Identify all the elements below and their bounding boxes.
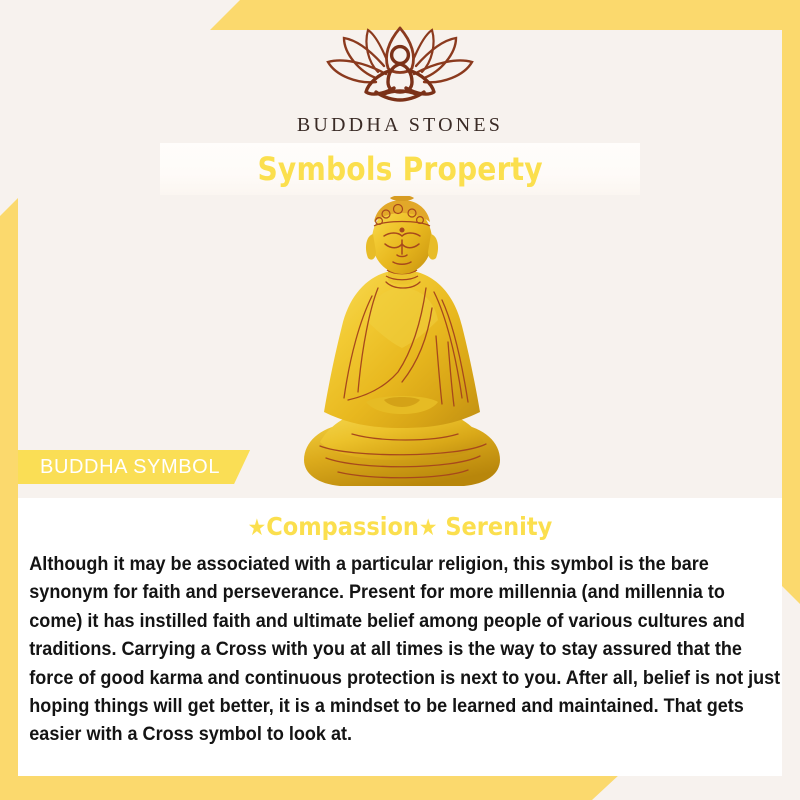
star-icon-1: ★	[248, 515, 267, 541]
attributes-heading: ★Compassion★ Serenity	[56, 498, 744, 541]
lotus-meditation-figure-icon	[314, 22, 486, 108]
description-paragraph: Although it may be associated with a par…	[18, 541, 793, 750]
brand-header: BUDDHA STONES	[0, 22, 800, 137]
decor-band-bottom	[0, 774, 620, 800]
attribute-compassion: Compassion	[266, 512, 419, 541]
ribbon-label: BUDDHA SYMBOL	[40, 456, 220, 479]
brand-name: BUDDHA STONES	[0, 114, 800, 137]
page-title: Symbols Property	[257, 150, 542, 188]
buddha-statue-image	[286, 196, 518, 508]
golden-buddha-statue-icon	[286, 196, 518, 508]
section-ribbon-buddha-symbol: BUDDHA SYMBOL	[18, 450, 250, 484]
title-banner: Symbols Property	[160, 143, 640, 195]
attribute-serenity: Serenity	[445, 512, 552, 541]
content-panel: ★Compassion★ Serenity Although it may be…	[18, 498, 782, 776]
decor-band-left	[0, 198, 18, 776]
poster-canvas: BUDDHA STONES Symbols Property	[0, 0, 800, 800]
star-icon-2: ★	[419, 515, 438, 541]
